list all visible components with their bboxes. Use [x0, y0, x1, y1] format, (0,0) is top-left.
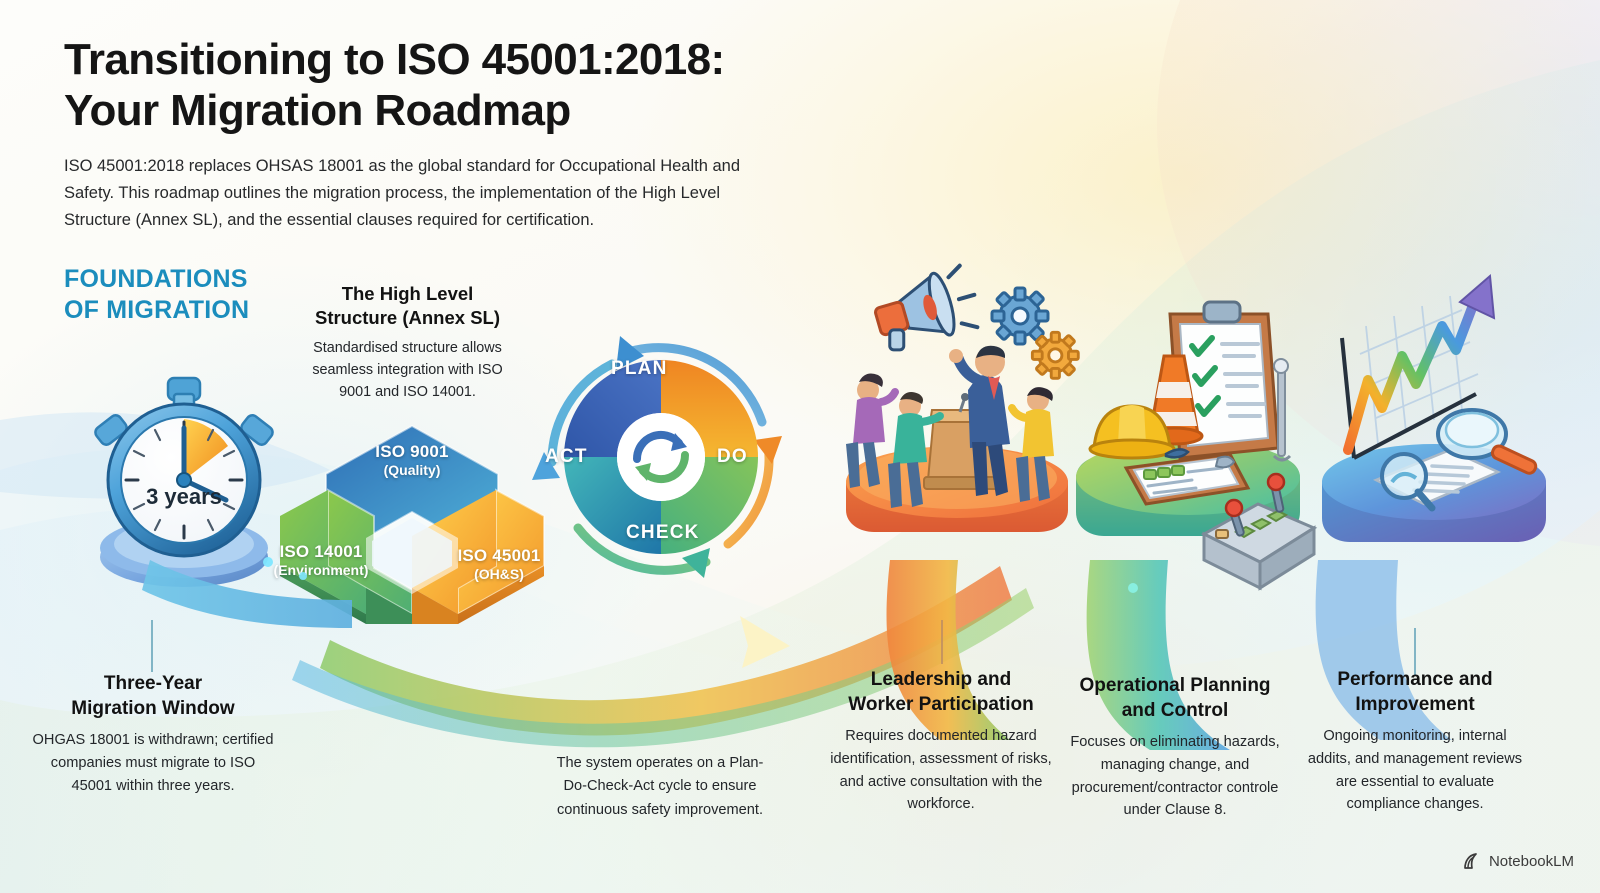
annex-sl-heading-line-2: Structure (Annex SL) — [300, 306, 515, 330]
caption-heading-line-2: Worker Participation — [828, 693, 1054, 718]
section-kicker-line-2: OF MIGRATION — [64, 295, 249, 326]
page-title: Transitioning to ISO 45001:2018: Your Mi… — [64, 34, 864, 136]
section-kicker-line-1: FOUNDATIONS — [64, 264, 249, 295]
caption-heading-line-1: Performance and — [1300, 668, 1530, 693]
annex-sl-block: The High Level Structure (Annex SL) Stan… — [300, 282, 515, 404]
caption-heading-line-2: Migration Window — [30, 697, 276, 722]
caption-three-year-migration-window: Three-Year Migration Window OHGAS 18001 … — [30, 672, 276, 797]
gear-icon — [992, 288, 1048, 344]
caption-leadership-and-worker-participation: Leadership and Worker Participation Requ… — [828, 668, 1054, 816]
caption-body: Focuses on eliminating hazards, managing… — [1062, 731, 1288, 821]
pdca-cycle-diagram: PLAN DO CHECK ACT — [516, 312, 806, 602]
page-title-line-2: Your Migration Roadmap — [64, 85, 864, 136]
stopwatch-icon: 3 years — [76, 372, 292, 602]
caption-heading-line-2: Improvement — [1300, 693, 1530, 718]
section-kicker: FOUNDATIONS OF MIGRATION — [64, 264, 249, 326]
header: Transitioning to ISO 45001:2018: Your Mi… — [64, 34, 864, 233]
pdca-label-plan: PLAN — [611, 358, 668, 380]
caption-performance-and-improvement: Performance and Improvement Ongoing moni… — [1300, 668, 1530, 816]
caption-heading: Operational Planning and Control — [1062, 674, 1288, 723]
notebooklm-icon — [1463, 852, 1482, 871]
megaphone-icon — [869, 264, 983, 355]
caption-body: Ongoing monitoring, internal addits, and… — [1300, 725, 1530, 815]
watermark: NotebookLM — [1463, 852, 1574, 871]
annex-sl-heading: The High Level Structure (Annex SL) — [300, 282, 515, 330]
leadership-scene — [826, 272, 1086, 572]
connector-stem-leadership — [941, 620, 943, 664]
caption-heading-line-1: Operational Planning — [1062, 674, 1288, 699]
caption-heading: Leadership and Worker Participation — [828, 668, 1054, 717]
pdca-label-act: ACT — [545, 446, 588, 468]
operational-scene — [1062, 272, 1322, 592]
caption-heading: Performance and Improvement — [1300, 668, 1530, 717]
caption-heading-line-1: Leadership and — [828, 668, 1054, 693]
caption-heading: Three-Year Migration Window — [30, 672, 276, 721]
pdca-caption: The system operates on a Plan-Do-Check-A… — [552, 752, 768, 822]
caption-body: OHGAS 18001 is withdrawn; certified comp… — [30, 729, 276, 797]
page-subtitle: ISO 45001:2018 replaces OHSAS 18001 as t… — [64, 153, 764, 233]
caption-heading-line-1: Three-Year — [30, 672, 276, 697]
caption-heading-line-2: and Control — [1062, 699, 1288, 724]
caption-body: Requires documented hazard identificatio… — [828, 725, 1054, 815]
page-title-line-1: Transitioning to ISO 45001:2018: — [64, 34, 864, 85]
performance-scene — [1290, 268, 1570, 588]
annex-sl-heading-line-1: The High Level — [300, 282, 515, 306]
pdca-label-check: CHECK — [626, 522, 700, 544]
stopwatch-label: 3 years — [146, 484, 222, 509]
annex-sl-body: Standardised structure allows seamless i… — [300, 338, 515, 404]
pdca-label-do: DO — [717, 446, 748, 468]
caption-operational-planning-and-control: Operational Planning and Control Focuses… — [1062, 674, 1288, 822]
infographic-canvas: Transitioning to ISO 45001:2018: Your Mi… — [0, 0, 1600, 893]
watermark-label: NotebookLM — [1489, 853, 1574, 870]
connector-stem-migration — [151, 620, 153, 672]
